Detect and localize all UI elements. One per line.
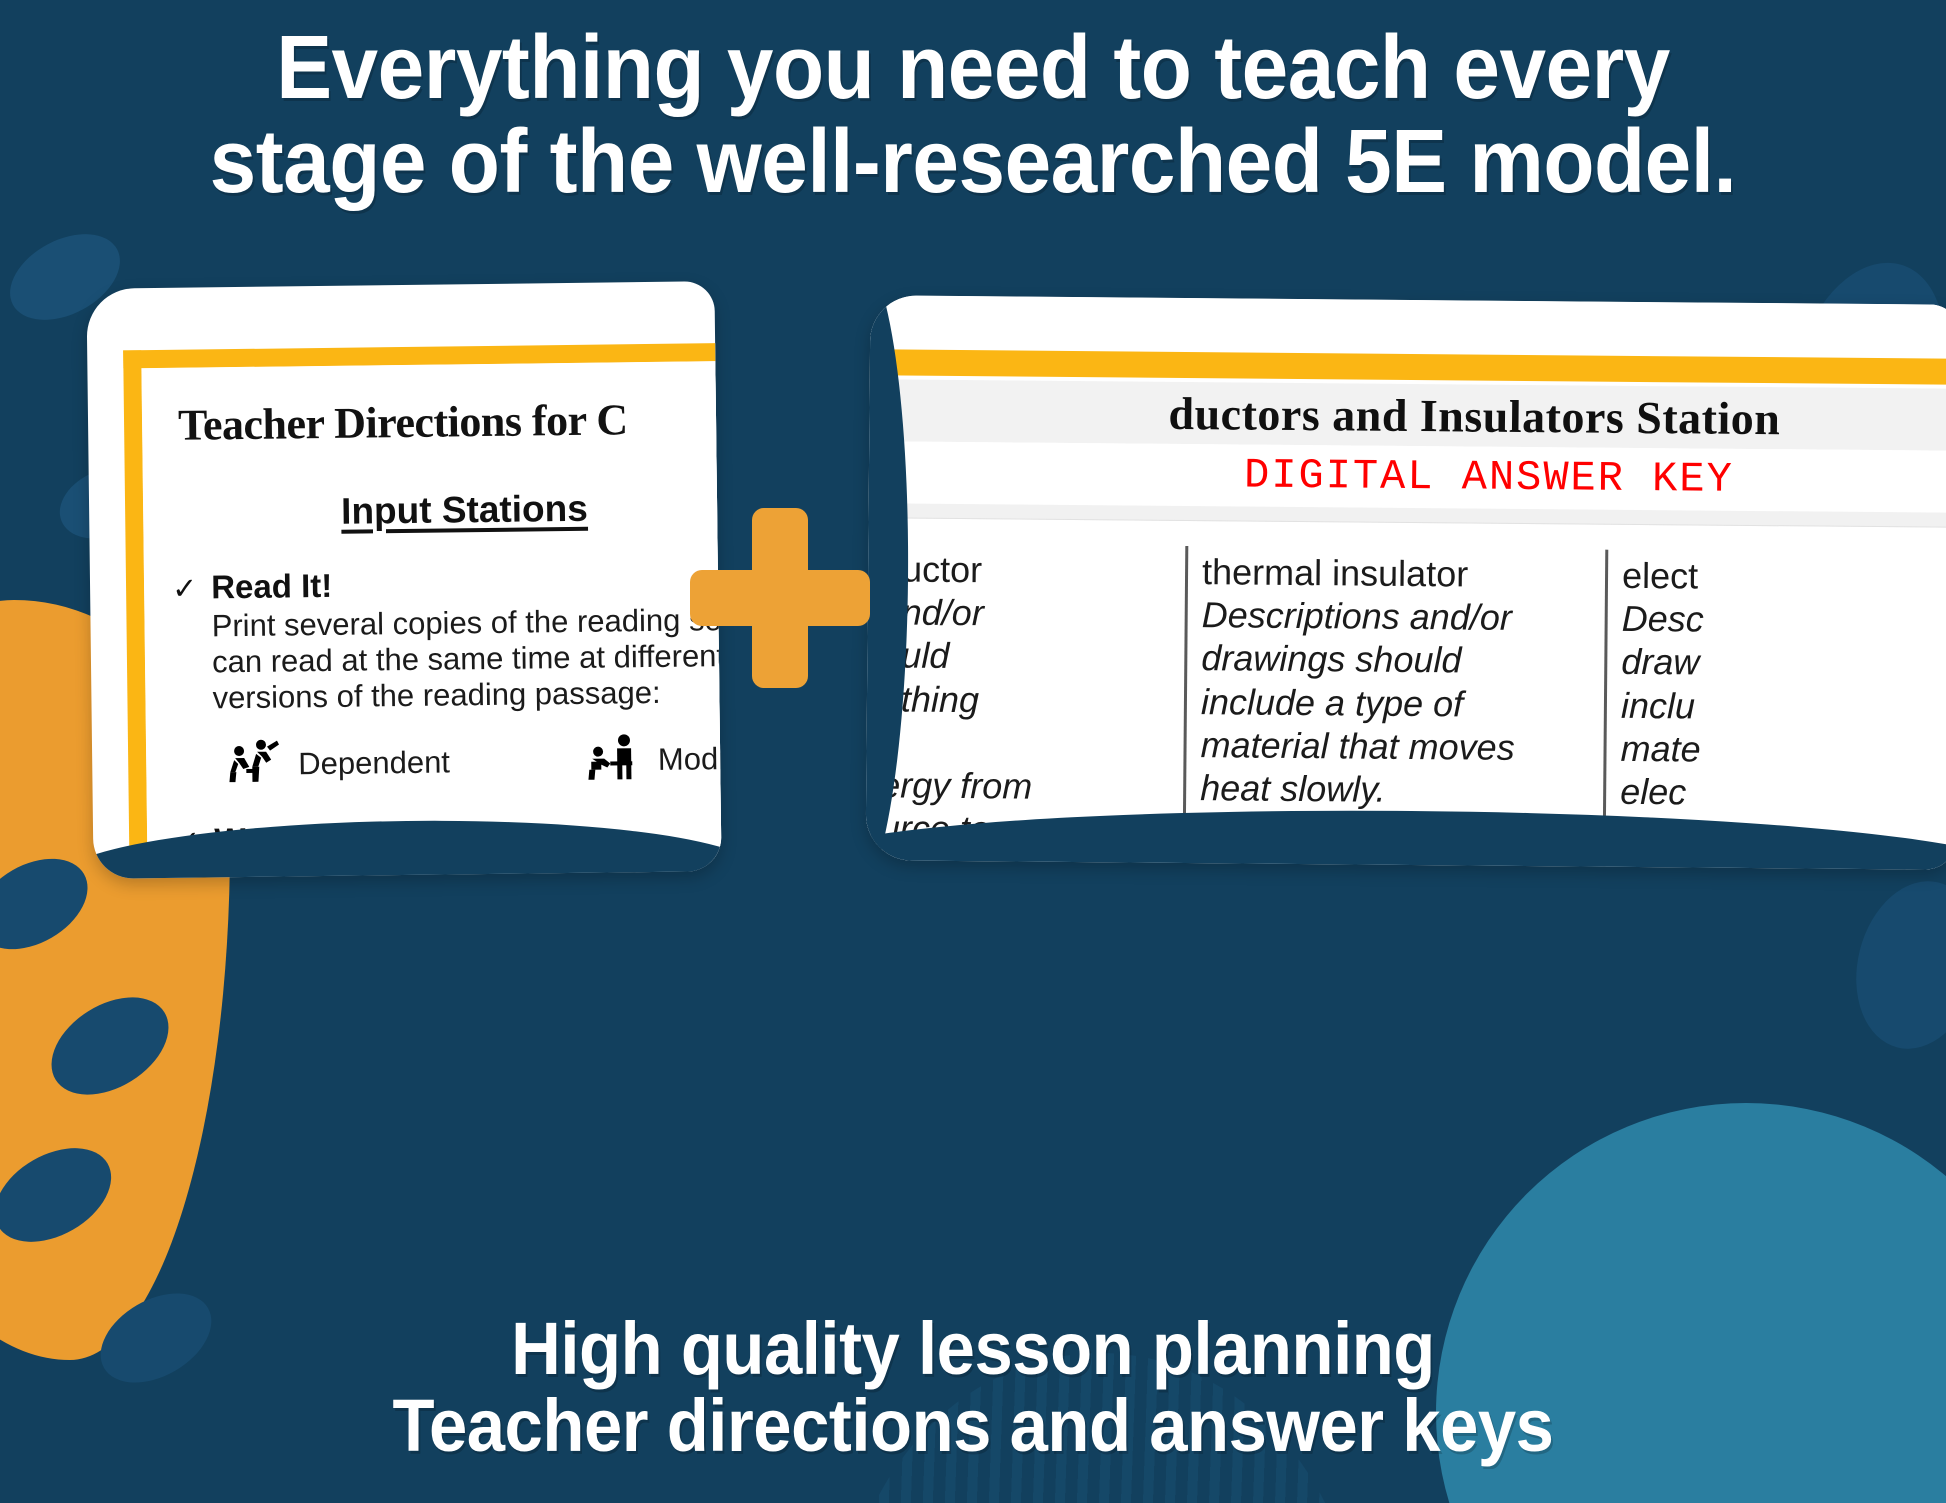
teacher-directions-content: Teacher Directions for C Input Stations …	[141, 361, 721, 870]
reading-versions-row: Dependent	[226, 732, 722, 793]
cell-desc-line: material that moves	[1200, 723, 1587, 770]
cell-desc-line: elec	[1620, 770, 1940, 816]
bullet-read-it-text: Read It! Print several copies of the rea…	[211, 561, 722, 716]
cell-desc-line: include a type of	[1201, 680, 1588, 727]
bg-ellipse-9	[1839, 868, 1946, 1062]
plus-horizontal-bar	[690, 570, 870, 626]
headline-top: Everything you need to teach every stage…	[68, 22, 1878, 209]
cell-desc-line: Desc	[1622, 597, 1942, 643]
headline-bottom: High quality lesson planning Teacher dir…	[68, 1311, 1878, 1465]
checkmark-icon: ✓	[172, 569, 199, 717]
answer-key-title-bar: ductors and Insulators Station	[869, 379, 1946, 451]
people-climbing-icon	[226, 737, 285, 793]
table-cell-electrical: elect Desc draw inclu mate elec pass	[1606, 550, 1946, 853]
cell-term: ductor	[882, 547, 1169, 593]
digital-answer-key-label: DIGITAL ANSWER KEY	[1244, 452, 1734, 504]
answer-key-document-title: ductors and Insulators Station	[1168, 386, 1780, 444]
cell-desc-line: and/or	[882, 591, 1169, 637]
table-row: ductor and/or ould ething s ergy from ur…	[866, 543, 1946, 853]
section-heading: Input Stations	[341, 486, 722, 533]
bullet-read-it: ✓ Read It! Print several copies of the r…	[172, 562, 722, 717]
answer-key-card[interactable]: ductors and Insulators Station DIGITAL A…	[866, 295, 1946, 869]
table-cell-thermal-conductor: ductor and/or ould ething s ergy from ur…	[866, 543, 1189, 846]
slide-canvas: Everything you need to teach every stage…	[0, 0, 1946, 1503]
plus-icon	[690, 508, 870, 688]
reading-version-label: Modifi	[658, 741, 722, 778]
reading-version-dependent: Dependent	[226, 735, 450, 793]
bullet-body-line: versions of the reading passage:	[212, 673, 721, 716]
headline-top-line1: Everything you need to teach every	[68, 22, 1878, 116]
teacher-directions-card[interactable]: Teacher Directions for C Input Stations …	[86, 281, 721, 879]
cell-desc-line: ergy from	[880, 763, 1167, 809]
cell-desc-line: ething	[881, 677, 1168, 723]
answer-key-page: ductors and Insulators Station DIGITAL A…	[866, 295, 1946, 869]
headline-top-line2: stage of the well-researched 5E model.	[68, 116, 1878, 210]
cell-term: thermal insulator	[1202, 550, 1589, 597]
cell-desc-line: heat slowly.	[1200, 766, 1587, 813]
headline-bottom-line2: Teacher directions and answer keys	[68, 1388, 1878, 1465]
cell-desc-line: inclu	[1621, 683, 1941, 729]
cell-desc-line: Descriptions and/or	[1202, 593, 1589, 640]
headline-bottom-line1: High quality lesson planning	[68, 1311, 1878, 1388]
teacher-directions-page: Teacher Directions for C Input Stations …	[123, 343, 721, 870]
gold-accent-bar	[870, 349, 1946, 385]
digital-answer-key-bar: DIGITAL ANSWER KEY	[869, 441, 1946, 513]
cell-desc-line: mate	[1620, 727, 1940, 773]
cell-desc-line: drawings should	[1201, 637, 1588, 684]
bullet-body-line: Print several copies of the reading so t…	[211, 601, 721, 644]
cell-term: elect	[1622, 554, 1942, 600]
document-title: Teacher Directions for C	[178, 393, 722, 451]
cell-desc-line: s	[880, 720, 1167, 766]
table-cell-thermal-insulator: thermal insulator Descriptions and/or dr…	[1186, 546, 1609, 850]
reading-version-modified: Modifi	[586, 732, 722, 789]
bullet-body-line: can read at the same time at different p…	[212, 637, 722, 680]
people-desk-icon	[586, 733, 645, 789]
reading-version-label: Dependent	[298, 745, 450, 783]
cell-desc-line: draw	[1621, 640, 1941, 686]
cell-desc-line: ould	[881, 634, 1168, 680]
bullet-title: Read It!	[211, 561, 722, 606]
